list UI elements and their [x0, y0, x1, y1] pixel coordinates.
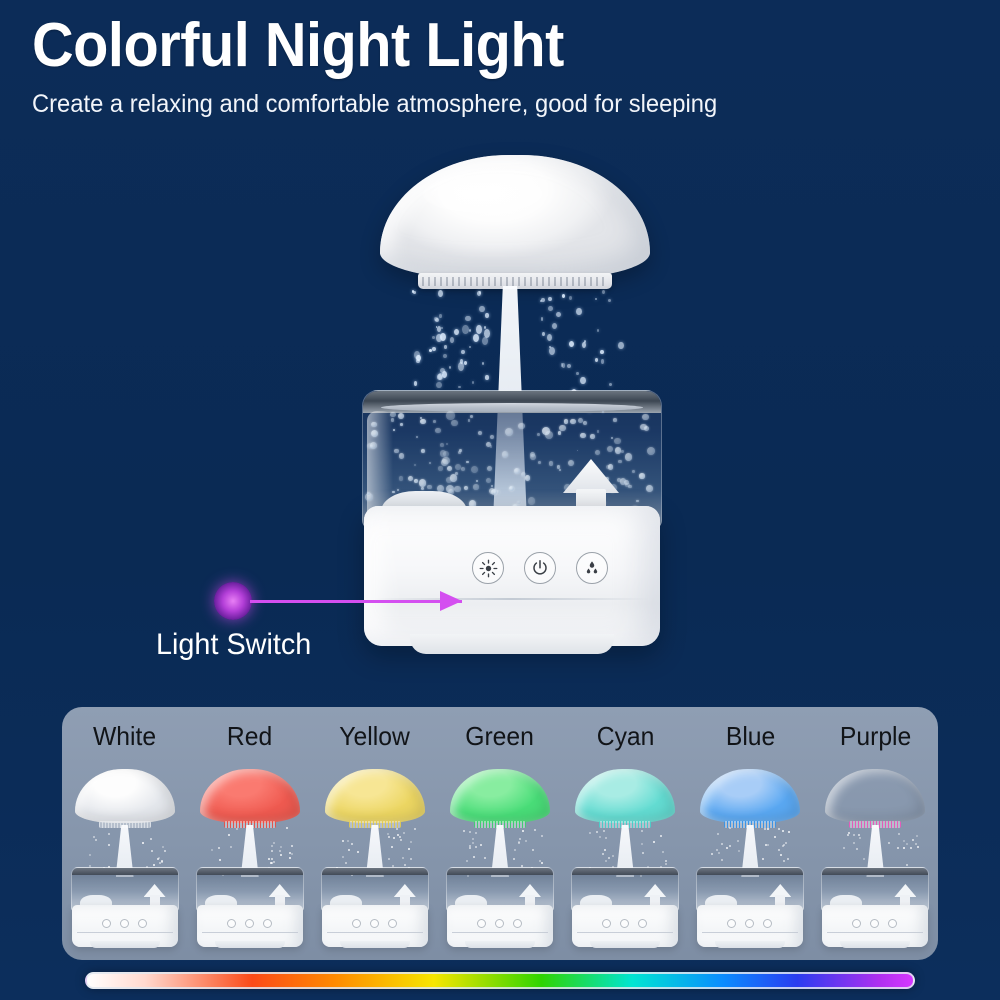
- condensation-drop: [433, 420, 436, 423]
- rain-drop: [569, 341, 574, 347]
- mini-device: [694, 769, 806, 947]
- rain-drop: [462, 325, 468, 334]
- condensation-drop: [464, 486, 468, 490]
- mini-device-base: [322, 905, 428, 947]
- mini-base-seam: [202, 932, 298, 933]
- condensation-drop: [441, 459, 448, 466]
- rain-drop: [439, 314, 443, 318]
- condensation-drop: [611, 437, 613, 439]
- rain-drop: [438, 290, 443, 298]
- rain-drop: [449, 366, 452, 370]
- rain-drop: [436, 382, 442, 389]
- rain-drop: [608, 299, 611, 302]
- rain-drop: [437, 326, 441, 332]
- mini-sun-icon: [852, 919, 861, 928]
- mini-control-panel: [352, 919, 397, 928]
- condensation-drop: [458, 451, 461, 454]
- condensation-drop: [578, 418, 583, 423]
- rain-drop: [556, 312, 561, 317]
- annotation-arrow-icon: [440, 591, 462, 611]
- mini-power-icon: [745, 919, 754, 928]
- mini-control-panel: [852, 919, 897, 928]
- condensation-drop: [625, 483, 630, 488]
- condensation-drop: [490, 445, 493, 448]
- condensation-drop: [487, 466, 493, 472]
- condensation-drop: [558, 431, 562, 435]
- mini-control-panel: [727, 919, 772, 928]
- condensation-drop: [399, 476, 404, 481]
- condensation-drop: [590, 434, 594, 438]
- light-button[interactable]: [472, 552, 504, 584]
- rain-drop: [465, 316, 470, 322]
- mini-mushroom-cap: [700, 769, 800, 823]
- mini-base-foot: [590, 941, 660, 948]
- rain-drop: [450, 337, 454, 343]
- mini-water-drops-icon: [638, 919, 647, 928]
- condensation-drop: [440, 443, 444, 447]
- condensation-drop: [642, 414, 649, 421]
- base-foot: [410, 634, 614, 654]
- mini-device-base: [72, 905, 178, 947]
- rain-drop: [547, 334, 552, 341]
- condensation-drop: [491, 485, 493, 487]
- rain-drop: [435, 318, 439, 322]
- condensation-drop: [517, 501, 521, 505]
- mini-mushroom-cap: [450, 769, 550, 823]
- condensation-drop: [597, 430, 600, 433]
- rain-drop: [600, 350, 604, 354]
- condensation-drop: [537, 433, 540, 436]
- annotation-dot: [214, 582, 252, 620]
- device-base: [364, 506, 660, 646]
- mini-mushroom-cap: [325, 769, 425, 823]
- annotation-label: Light Switch: [156, 628, 311, 662]
- mini-device-base: [197, 905, 303, 947]
- condensation-drop: [393, 429, 395, 431]
- condensation-drop: [461, 467, 465, 471]
- power-icon: [531, 559, 549, 577]
- rain-drop: [440, 333, 446, 341]
- mini-device: [444, 769, 556, 947]
- condensation-drop: [471, 466, 478, 473]
- condensation-drop: [559, 469, 561, 471]
- rain-drop: [576, 308, 581, 315]
- rain-drop: [461, 350, 465, 355]
- condensation-drop: [446, 443, 449, 446]
- condensation-drop: [473, 484, 478, 489]
- condensation-drop: [367, 492, 370, 495]
- condensation-drop: [613, 418, 617, 422]
- condensation-drop: [427, 485, 432, 490]
- mini-water-drops-icon: [388, 919, 397, 928]
- rain-drop: [562, 363, 565, 368]
- mini-device: [194, 769, 306, 947]
- sun-icon: [479, 559, 498, 578]
- condensation-drop: [506, 454, 508, 456]
- condensation-drop: [438, 466, 442, 470]
- control-panel: [472, 552, 608, 584]
- condensation-drop: [614, 438, 620, 444]
- color-option-label: Blue: [691, 721, 810, 752]
- mini-sun-icon: [602, 919, 611, 928]
- mini-water-drops-icon: [263, 919, 272, 928]
- rain-drop: [548, 297, 552, 301]
- rain-drop: [443, 354, 447, 358]
- condensation-drop: [414, 479, 418, 483]
- rain-drop: [413, 291, 416, 294]
- condensation-drop: [632, 470, 636, 474]
- mini-sun-icon: [477, 919, 486, 928]
- condensation-drop: [371, 422, 377, 428]
- condensation-drop: [455, 472, 458, 475]
- color-option-label: Cyan: [566, 721, 685, 752]
- color-option-cyan[interactable]: Cyan: [563, 707, 688, 960]
- mini-power-icon: [370, 919, 379, 928]
- color-options-grid: WhiteRedYellowGreenCyanBluePurple: [62, 707, 938, 960]
- mini-device: [569, 769, 681, 947]
- condensation-drop: [397, 489, 399, 491]
- condensation-drop: [490, 435, 494, 439]
- condensation-drop: [639, 473, 644, 478]
- rain-drop: [618, 342, 624, 350]
- condensation-drop: [647, 447, 655, 455]
- rain-drop: [541, 317, 544, 321]
- condensation-drop: [577, 450, 579, 452]
- house-roof-icon: [563, 459, 619, 493]
- condensation-drop: [491, 489, 497, 495]
- mini-device-base: [822, 905, 928, 947]
- condensation-drop: [408, 476, 413, 481]
- mini-base-seam: [77, 932, 173, 933]
- mini-control-panel: [477, 919, 522, 928]
- mini-mushroom-cap: [200, 769, 300, 823]
- rain-drop: [609, 383, 613, 387]
- mini-device: [319, 769, 431, 947]
- mini-power-icon: [120, 919, 129, 928]
- power-button[interactable]: [524, 552, 556, 584]
- mini-device-base: [572, 905, 678, 947]
- mini-sun-icon: [227, 919, 236, 928]
- mini-power-icon: [495, 919, 504, 928]
- mini-base-seam: [452, 932, 548, 933]
- condensation-drop: [644, 426, 649, 431]
- rain-drop: [549, 346, 551, 348]
- mini-mushroom-cap: [575, 769, 675, 823]
- rain-drop: [542, 332, 545, 336]
- rain-drop: [597, 329, 600, 332]
- condensation-drop: [549, 461, 553, 465]
- mini-control-panel: [602, 919, 647, 928]
- condensation-drop: [367, 443, 374, 450]
- condensation-drop: [394, 449, 398, 453]
- tank-top-ring: [363, 391, 661, 413]
- mushroom-cap: [380, 155, 650, 280]
- rain-drop: [458, 386, 460, 388]
- condensation-drop: [509, 486, 514, 491]
- color-spectrum-bar: [85, 972, 915, 989]
- mini-base-foot: [215, 941, 285, 948]
- rain-drop: [473, 334, 479, 342]
- rain-drop: [576, 372, 579, 376]
- mini-device-base: [447, 905, 553, 947]
- condensation-drop: [391, 418, 394, 421]
- condensation-drop: [580, 433, 586, 439]
- rain-drop: [482, 362, 484, 364]
- condensation-drop: [602, 411, 604, 413]
- water-drops-icon: [583, 559, 601, 577]
- mini-device: [819, 769, 931, 947]
- rain-drop: [569, 296, 572, 300]
- color-option-green[interactable]: Green: [437, 707, 562, 960]
- color-option-purple[interactable]: Purple: [813, 707, 938, 960]
- condensation-drop: [518, 423, 524, 429]
- mini-base-seam: [827, 932, 923, 933]
- color-options-panel: WhiteRedYellowGreenCyanBluePurple: [62, 707, 938, 960]
- condensation-drop: [454, 486, 460, 492]
- mini-control-panel: [102, 919, 147, 928]
- mini-base-seam: [327, 932, 423, 933]
- condensation-drop: [400, 423, 403, 426]
- rain-drop: [432, 347, 436, 351]
- condensation-drop: [416, 436, 418, 438]
- condensation-drop: [476, 480, 478, 482]
- rain-drop: [454, 329, 459, 335]
- rain-drop: [582, 342, 586, 348]
- mini-device: [69, 769, 181, 947]
- condensation-drop: [564, 419, 569, 424]
- rain-drop: [464, 361, 468, 365]
- condensation-drop: [414, 464, 416, 466]
- condensation-drop: [468, 419, 470, 421]
- mini-power-icon: [620, 919, 629, 928]
- mini-base-foot: [90, 941, 160, 948]
- color-option-white[interactable]: White: [62, 707, 187, 960]
- color-option-label: Purple: [816, 721, 935, 752]
- rain-drop: [416, 355, 421, 362]
- condensation-drop: [446, 411, 454, 419]
- mini-base-foot: [840, 941, 910, 948]
- mist-button[interactable]: [576, 552, 608, 584]
- mini-base-seam: [577, 932, 673, 933]
- mini-device-base: [697, 905, 803, 947]
- rain-drop: [601, 359, 604, 364]
- rain-drop: [438, 373, 442, 380]
- condensation-drop: [570, 419, 575, 424]
- rain-drop: [549, 347, 555, 355]
- mini-power-icon: [870, 919, 879, 928]
- rain-drop: [479, 306, 484, 312]
- color-option-label: Yellow: [315, 721, 434, 752]
- condensation-drop: [420, 419, 425, 424]
- rain-drop: [432, 336, 435, 339]
- condensation-drop: [451, 420, 458, 427]
- condensation-drop: [392, 491, 394, 493]
- condensation-drop: [607, 446, 613, 452]
- rain-drop: [595, 298, 597, 300]
- condensation-drop: [595, 450, 600, 455]
- mini-base-seam: [702, 932, 798, 933]
- condensation-drop: [636, 500, 638, 502]
- condensation-drop: [429, 462, 431, 464]
- condensation-drop: [505, 428, 513, 436]
- rain-drop: [562, 294, 565, 298]
- color-option-red[interactable]: Red: [187, 707, 312, 960]
- rain-drop: [602, 290, 605, 294]
- mini-base-foot: [465, 941, 535, 948]
- rain-drop: [548, 306, 553, 311]
- rain-drop: [552, 323, 557, 329]
- annotation-line: [250, 600, 462, 603]
- rain-drop: [476, 325, 482, 333]
- condensation-drop: [466, 461, 468, 463]
- rain-drop: [485, 375, 489, 379]
- mini-control-panel: [227, 919, 272, 928]
- mini-water-drops-icon: [138, 919, 147, 928]
- color-option-label: Red: [190, 721, 309, 752]
- condensation-drop: [446, 477, 452, 483]
- page-subtitle: Create a relaxing and comfortable atmosp…: [32, 90, 916, 119]
- mini-water-drops-icon: [513, 919, 522, 928]
- condensation-drop: [528, 497, 536, 505]
- color-option-label: White: [65, 721, 184, 752]
- condensation-drop: [538, 461, 541, 464]
- condensation-drop: [447, 466, 452, 471]
- header: Colorful Night Light Create a relaxing a…: [32, 14, 962, 119]
- mini-water-drops-icon: [763, 919, 772, 928]
- page-title: Colorful Night Light: [32, 14, 897, 78]
- color-option-yellow[interactable]: Yellow: [312, 707, 437, 960]
- rain-drop: [477, 291, 481, 296]
- mini-power-icon: [245, 919, 254, 928]
- condensation-drop: [486, 478, 491, 483]
- condensation-drop: [545, 431, 553, 439]
- condensation-drop: [559, 425, 566, 432]
- rain-drop: [444, 345, 447, 348]
- rain-drop: [414, 381, 418, 386]
- mini-mushroom-cap: [825, 769, 925, 823]
- condensation-drop: [390, 412, 395, 417]
- rain-drop: [580, 377, 586, 385]
- condensation-drop: [398, 413, 404, 419]
- rain-drop: [484, 329, 490, 338]
- rain-drop: [595, 358, 599, 362]
- condensation-drop: [478, 431, 482, 435]
- condensation-drop: [583, 421, 587, 425]
- rain-drop: [429, 349, 432, 352]
- rain-drop: [441, 327, 443, 329]
- color-option-blue[interactable]: Blue: [688, 707, 813, 960]
- color-option-label: Green: [441, 721, 560, 752]
- mini-base-foot: [715, 941, 785, 948]
- condensation-drop: [421, 449, 425, 453]
- rain-drop: [485, 313, 488, 318]
- condensation-drop: [470, 415, 473, 418]
- mini-sun-icon: [102, 919, 111, 928]
- condensation-drop: [621, 450, 624, 453]
- condensation-drop: [399, 453, 405, 459]
- mini-mushroom-cap: [75, 769, 175, 823]
- condensation-drop: [646, 485, 653, 492]
- condensation-drop: [625, 453, 633, 461]
- mini-sun-icon: [352, 919, 361, 928]
- condensation-drop: [435, 428, 440, 433]
- mini-base-foot: [340, 941, 410, 948]
- rain-drop: [567, 364, 571, 368]
- condensation-drop: [514, 468, 520, 474]
- rain-drop: [469, 346, 471, 348]
- rain-drop: [540, 300, 542, 302]
- condensation-drop: [419, 479, 426, 486]
- mini-water-drops-icon: [888, 919, 897, 928]
- mini-sun-icon: [727, 919, 736, 928]
- condensation-drop: [455, 464, 461, 470]
- product-infographic: Colorful Night Light Create a relaxing a…: [0, 0, 1000, 1000]
- rain-drop: [472, 381, 474, 383]
- rain-drop: [482, 337, 488, 345]
- condensation-drop: [421, 487, 424, 490]
- rain-drop: [469, 329, 472, 333]
